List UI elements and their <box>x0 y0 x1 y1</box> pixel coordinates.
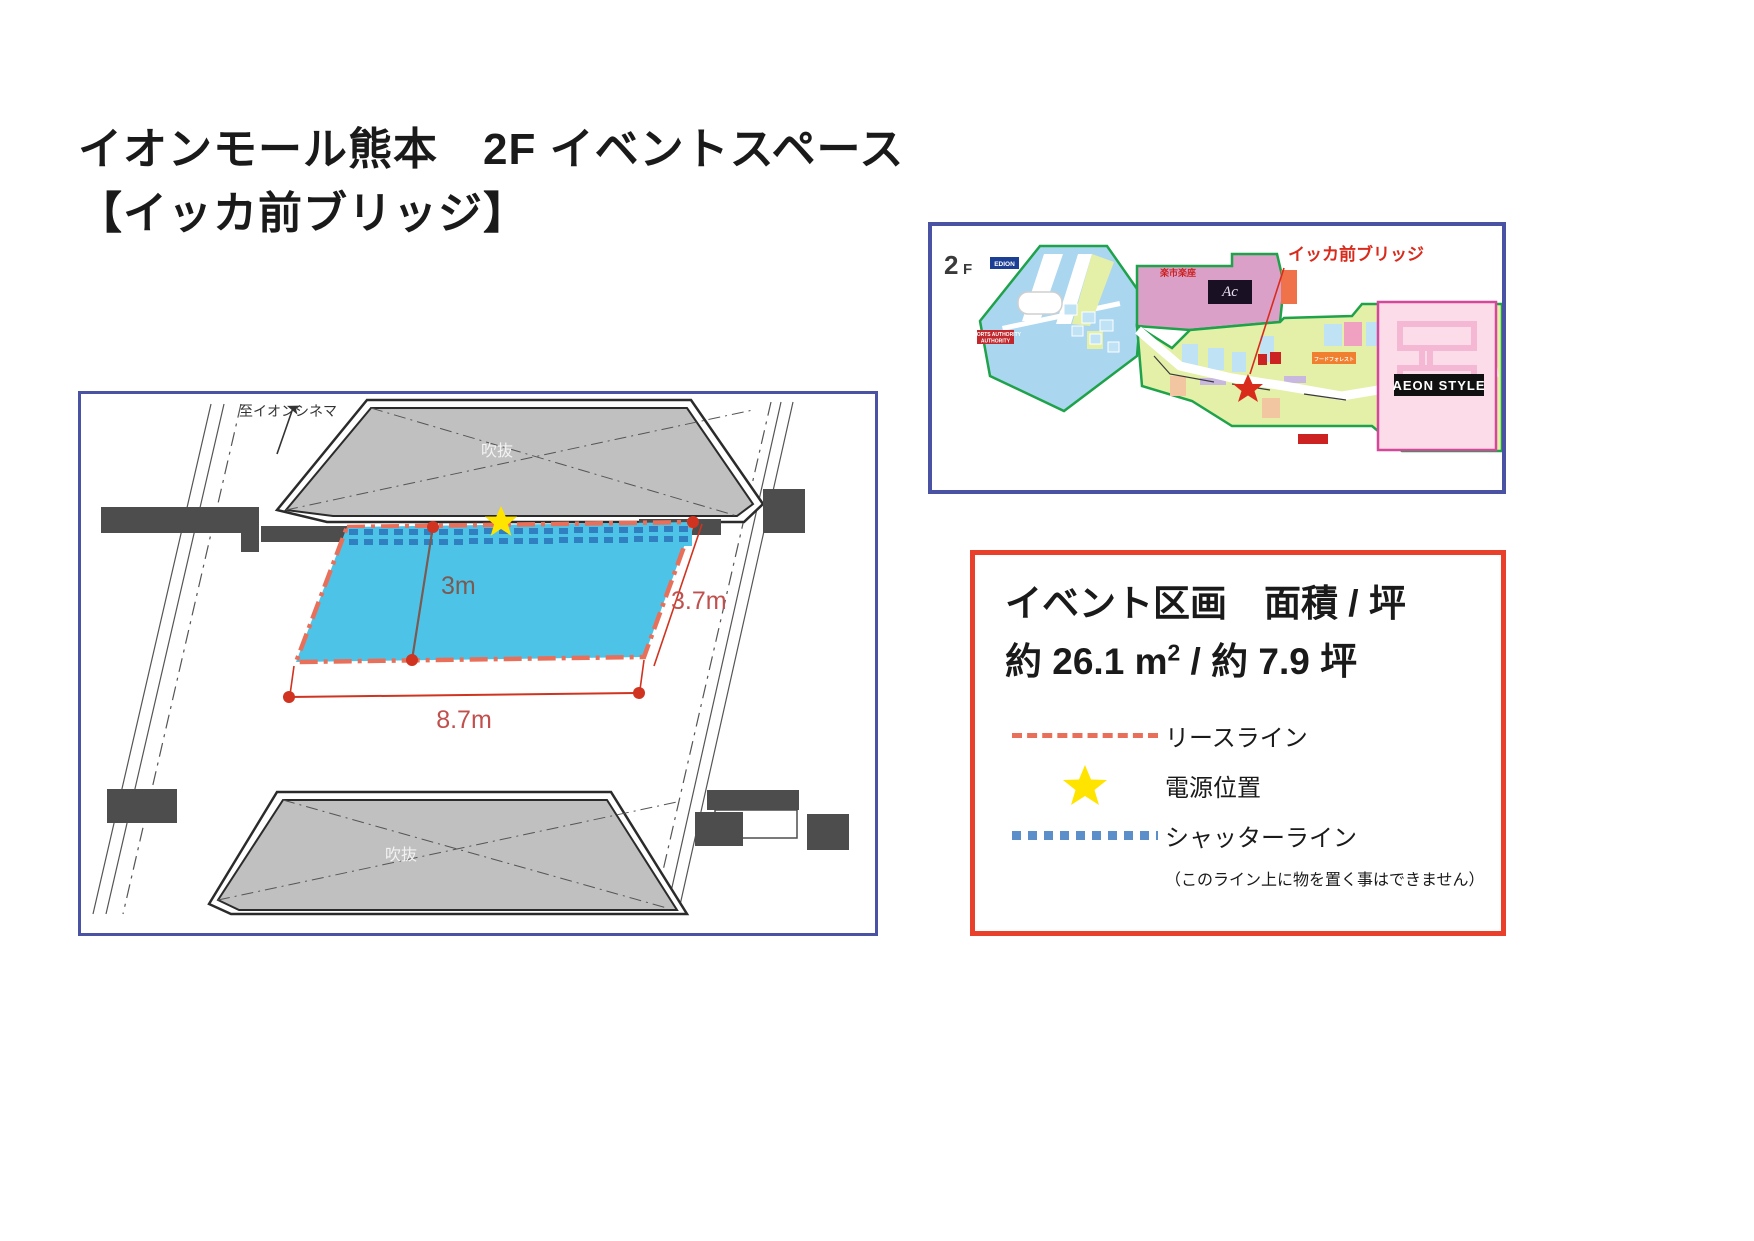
mall-callout-label: イッカ前ブリッジ <box>1288 244 1424 264</box>
legend-heading-area-title: イベント区画 面積 / 坪 <box>1005 577 1475 631</box>
dimension-8-7m: 8.7m <box>283 660 645 734</box>
dimension-label-3m: 3m <box>441 572 476 600</box>
event-zone: 3m <box>296 516 699 666</box>
legend-panel: イベント区画 面積 / 坪 約 26.1 m2 / 約 7.9 坪 リースライン… <box>970 550 1506 936</box>
legend-label-power: 電源位置 <box>1165 768 1261 803</box>
mall-center-wing: 楽市楽座 Ac <box>1137 254 1297 330</box>
dimension-label-3-7m: 3.7m <box>671 587 727 615</box>
mall-aeonstyle-block: AEON STYLE <box>1378 302 1496 450</box>
tenant-label-aeoncinema: Ac <box>1221 284 1238 300</box>
mall-overview-panel: 2 F <box>928 222 1506 494</box>
legend-heading-area-value: 約 26.1 m2 / 約 7.9 坪 <box>1005 635 1475 689</box>
void-label-top: 吹抜 <box>481 442 513 460</box>
tenant-label-sports-authority-sub: AUTHORITY <box>981 339 1011 345</box>
tenant-label-rakuichi: 楽市楽座 <box>1160 267 1196 278</box>
lease-line-icon <box>1005 733 1165 738</box>
legend-note: （このライン上に物を置く事はできません） <box>1165 866 1475 890</box>
legend-label-lease-line: リースライン <box>1165 718 1308 753</box>
mall-floor-suffix: F <box>963 261 972 278</box>
tenant-label-aeonstyle: AEON STYLE <box>1392 378 1485 393</box>
direction-label-cinema: 至イオンシネマ <box>239 403 337 419</box>
legend-label-shutter-line: シャッターライン <box>1165 818 1357 853</box>
page-title-line-2: 【イッカ前ブリッジ】 <box>78 182 978 246</box>
page-title: イオンモール熊本 2F イベントスペース 【イッカ前ブリッジ】 <box>78 118 978 246</box>
shutter-line <box>348 526 692 546</box>
legend-item-shutter-line: シャッターライン <box>1005 810 1475 860</box>
legend-item-lease-line: リースライン <box>1005 710 1475 760</box>
shutter-line-icon <box>1005 831 1165 840</box>
star-icon <box>1005 763 1165 807</box>
tenant-label-foodforest: フードフォレスト <box>1314 357 1354 363</box>
legend-item-power: 電源位置 <box>1005 760 1475 810</box>
tenant-label-edion: EDION <box>994 261 1015 268</box>
floorplan-panel: 至イオンシネマ 至イオンスタイル 吹抜 吹抜 <box>78 391 878 936</box>
dimension-label-8-7m: 8.7m <box>436 706 492 734</box>
page-title-line-1: イオンモール熊本 2F イベントスペース <box>78 118 978 182</box>
mall-floor-number: 2 <box>944 250 958 280</box>
mall-west-wing: SPORTS AUTHORITY AUTHORITY EDION <box>970 246 1142 411</box>
void-area-bottom: 吹抜 <box>209 792 687 914</box>
tenant-label-sports-authority: SPORTS AUTHORITY <box>970 332 1022 338</box>
void-label-bottom: 吹抜 <box>385 846 417 864</box>
legend-items: リースライン 電源位置 シャッターライン <box>1005 710 1475 860</box>
void-area-top: 吹抜 <box>277 400 763 522</box>
